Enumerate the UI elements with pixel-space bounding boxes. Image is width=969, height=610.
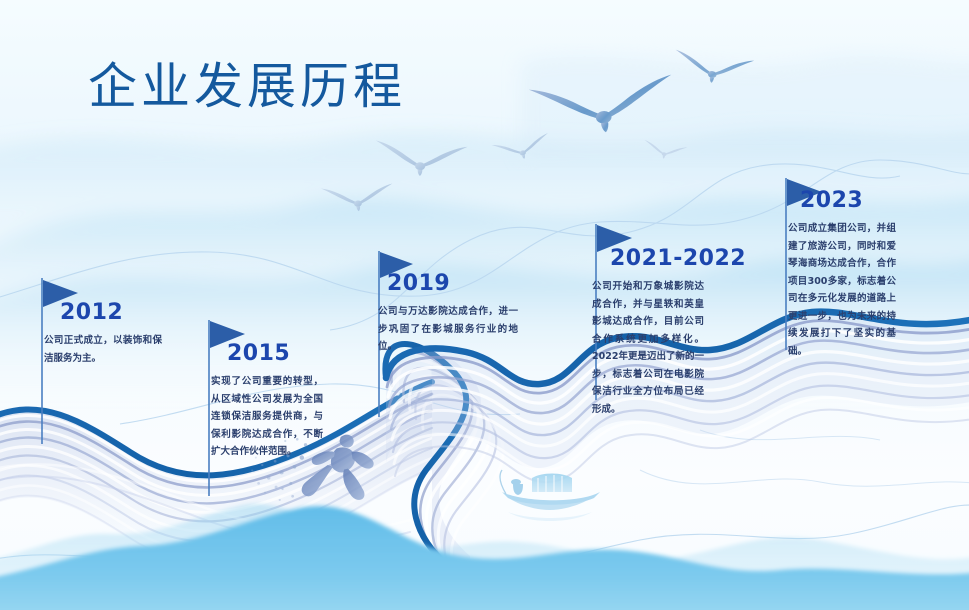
milestone-description: 公司开始和万象城影院达成合作，并与星轶和英皇影城达成合作，目前公司合作系统更加多… xyxy=(592,278,704,419)
timeline-poster: 企业发展历程 2012 公司正式成立，以装饰和保洁服务为主。 2015 实现了公… xyxy=(0,0,969,610)
milestone-year: 2015 xyxy=(227,341,290,366)
milestone-year: 2019 xyxy=(387,271,450,296)
milestone-description: 公司正式成立，以装饰和保洁服务为主。 xyxy=(44,332,162,367)
milestone-year: 2012 xyxy=(60,300,123,325)
milestone-year: 2023 xyxy=(800,188,863,213)
milestone-year: 2021-2022 xyxy=(610,246,746,271)
milestone-description: 公司与万达影院达成合作，进一步巩固了在影城服务行业的地位。 xyxy=(378,303,518,356)
milestone-description: 实现了公司重要的转型，从区域性公司发展为全国连锁保洁服务提供商，与保利影院达成合… xyxy=(211,373,323,461)
milestone-description: 公司成立集团公司，并组建了旅游公司，同时和爱琴海商场达成合作，合作项目300多家… xyxy=(788,220,896,361)
page-title: 企业发展历程 xyxy=(88,62,406,111)
